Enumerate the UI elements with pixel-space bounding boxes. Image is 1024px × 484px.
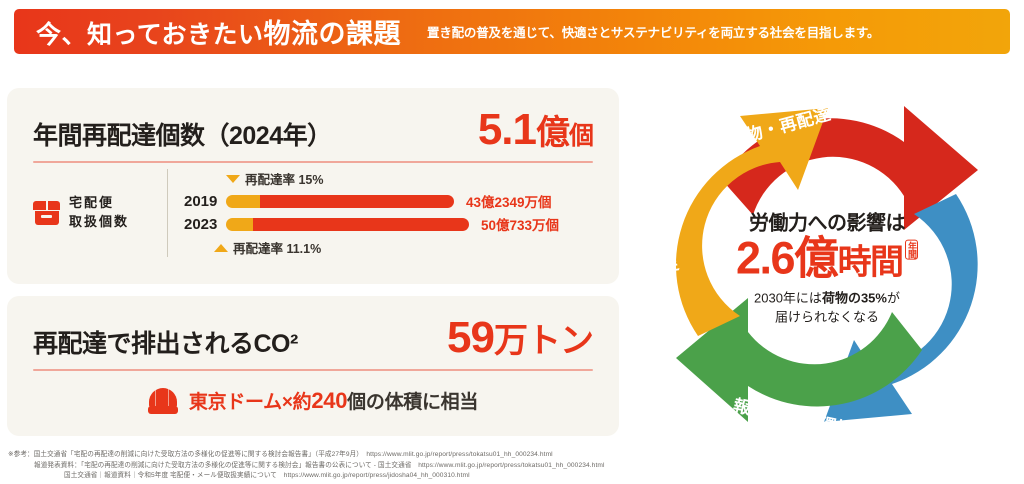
bar-value-2023: 50億733万個: [481, 214, 559, 234]
cycle-center-content: 労働力への影響は 2.6億時間年間 2030年には荷物の35%が 届けられなくな…: [722, 207, 932, 328]
chart-vertical-divider: [167, 169, 168, 257]
dome-number: 240: [311, 388, 347, 413]
page-title-normal: 今、知っておきたい: [36, 21, 264, 49]
cycle-center-number: 2.6: [736, 236, 794, 283]
bar-segment-other-2023: [253, 218, 469, 231]
legend-line-2: 取扱個数: [69, 213, 129, 232]
cycle-center-unit-jikan: 時間: [838, 246, 903, 281]
card-co2-label: 再配達で排出されるCO²: [33, 324, 298, 360]
card-redelivery-head: 年間再配達個数（2024年） 5.1億個: [7, 88, 619, 152]
card-redelivery-label: 年間再配達個数（2024年）: [33, 116, 332, 152]
sub-1b: 荷物の35%: [822, 290, 887, 305]
rate-note-2019-text: 再配達率 15%: [245, 169, 324, 188]
cycle-center-unit-oku: 億: [794, 236, 838, 283]
sub-1c: が: [887, 290, 900, 305]
co2-unit: 万トン: [494, 322, 593, 360]
chart-legend-text: 宅配便 取扱個数: [69, 194, 129, 232]
page-header-banner: 今、知っておきたい物流の課題 置き配の普及を通じて、快適さとサステナビリティを両…: [14, 9, 1010, 54]
bar-track-2019: [226, 195, 454, 208]
card-co2-divider: [33, 369, 593, 371]
cycle-center-subtext: 2030年には荷物の35%が 届けられなくなる: [722, 288, 932, 327]
co2-number: 59: [447, 313, 494, 362]
footnote-line-3: 国土交通省｜報道資料｜令和5年度 宅配便・メール便取扱実績について https:…: [8, 471, 1008, 482]
redelivery-bar-chart: 宅配便 取扱個数 再配達率 15% 2019 43億2349万個 2023: [7, 163, 619, 257]
dome-prefix: 東京ドーム×約: [189, 392, 311, 413]
cycle-center-subtext-line1: 2030年には荷物の35%が: [722, 288, 932, 308]
cycle-center-badge-nenkan: 年間: [905, 240, 918, 260]
bar-value-2019: 43億2349万個: [466, 191, 552, 211]
triangle-up-icon: [214, 244, 228, 252]
redelivery-unit-oku: 億: [536, 114, 569, 152]
card-annual-redelivery: 年間再配達個数（2024年） 5.1億個 宅配便 取扱個数 再配達率 15% 2…: [7, 88, 619, 284]
dome-suffix: 個の体積に相当: [347, 392, 478, 413]
tokyo-dome-equivalence: 東京ドーム×約240個の体積に相当: [7, 387, 619, 414]
rate-note-2023: 再配達率 11.1%: [214, 238, 609, 257]
card-co2-emissions: 再配達で排出されるCO² 59万トン 東京ドーム×約240個の体積に相当: [7, 296, 619, 436]
footnote-line-2: 報道発表資料：「宅配の再配達の削減に向けた受取方法の多様化の促進等に関する検討会…: [8, 461, 1008, 472]
card-redelivery-value: 5.1億個: [478, 108, 593, 152]
page-title-strong: 物流の課題: [264, 19, 402, 49]
rate-note-2019: 再配達率 15%: [226, 169, 609, 188]
redelivery-number: 5.1: [478, 105, 536, 154]
labor-impact-cycle-diagram: 荷物・再配達の増加 労働時間の長期化 報酬・労働環境の課題 配達員不足 労働力へ…: [636, 84, 1018, 450]
chart-bars-area: 再配達率 15% 2019 43億2349万個 2023 50億733万個: [184, 169, 619, 257]
tokyo-dome-icon: [148, 388, 178, 414]
card-co2-value: 59万トン: [447, 316, 593, 360]
bar-segment-redelivery-2019: [226, 195, 260, 208]
sub-1a: 2030年には: [754, 290, 822, 305]
legend-line-1: 宅配便: [69, 194, 129, 213]
bar-track-2023: [226, 218, 469, 231]
page-subtitle: 置き配の普及を通じて、快適さとサステナビリティを両立する社会を目指します。: [427, 22, 879, 41]
chart-legend: 宅配便 取扱個数: [33, 194, 165, 232]
bar-row-2023: 2023 50億733万個: [184, 214, 609, 234]
rate-note-2023-text: 再配達率 11.1%: [233, 238, 321, 257]
bar-segment-other-2019: [260, 195, 454, 208]
tokyo-dome-text: 東京ドーム×約240個の体積に相当: [189, 387, 478, 414]
parcel-box-icon: [33, 201, 60, 225]
cycle-center-subtext-line2: 届けられなくなる: [722, 308, 932, 328]
footnote-line-1: ※参考：国土交通省「宅配の再配達の削減に向けた受取方法の多様化の促進等に関する検…: [8, 450, 1008, 461]
bar-year-2019: 2019: [184, 193, 226, 210]
bar-year-2023: 2023: [184, 216, 226, 233]
bar-segment-redelivery-2023: [226, 218, 253, 231]
footnotes: ※参考：国土交通省「宅配の再配達の削減に向けた受取方法の多様化の促進等に関する検…: [8, 450, 1008, 482]
redelivery-unit-ko: 個: [569, 122, 593, 150]
triangle-down-icon: [226, 175, 240, 183]
page-title: 今、知っておきたい物流の課題: [36, 12, 401, 51]
cycle-center-heading: 労働力への影響は: [722, 207, 932, 236]
card-co2-head: 再配達で排出されるCO² 59万トン: [7, 296, 619, 360]
cycle-center-value: 2.6億時間年間: [722, 236, 932, 283]
bar-row-2019: 2019 43億2349万個: [184, 191, 609, 211]
